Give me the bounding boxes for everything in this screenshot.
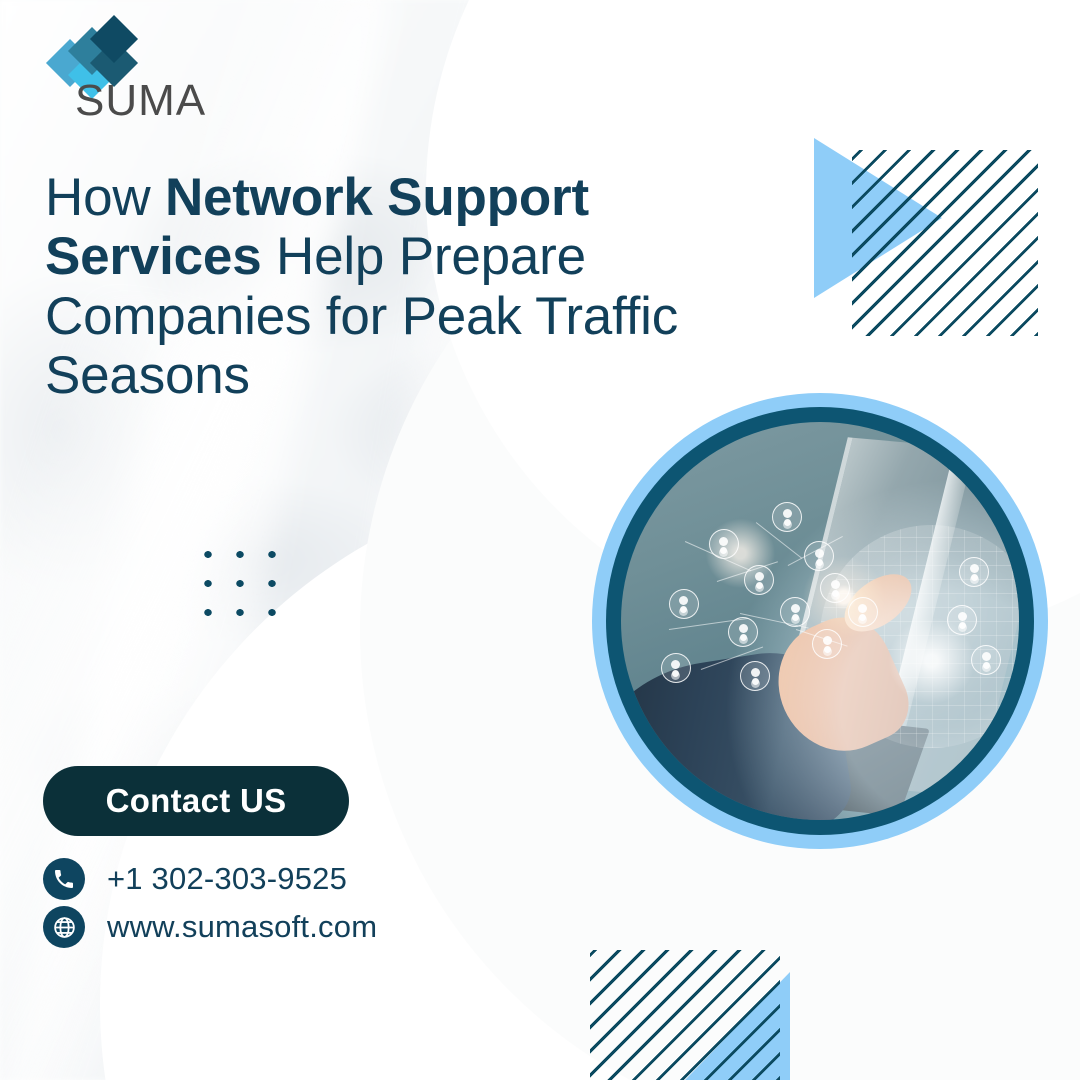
- circular-image-frame: [592, 393, 1048, 849]
- hatch-pattern-top-right: [852, 150, 1038, 336]
- page-title: How Network Support Services Help Prepar…: [45, 168, 685, 405]
- hatch-pattern-bottom-right: [590, 950, 780, 1080]
- dot-grid-decoration: [190, 538, 292, 628]
- phone-icon: [43, 858, 85, 900]
- contact-website-row[interactable]: www.sumasoft.com: [43, 906, 377, 948]
- website-url: www.sumasoft.com: [107, 909, 377, 945]
- network-monitor-photo: [621, 422, 1019, 820]
- phone-number: +1 302-303-9525: [107, 861, 347, 897]
- logo-wordmark: SUMA: [75, 76, 206, 126]
- contact-us-button[interactable]: Contact US: [43, 766, 349, 836]
- headline-part-1: How: [45, 168, 165, 227]
- poster-canvas: SUMA How Network Support Services Help P…: [0, 0, 1080, 1080]
- globe-icon: [43, 906, 85, 948]
- circular-image-inner-ring: [606, 407, 1034, 835]
- suma-logo[interactable]: SUMA: [45, 28, 265, 120]
- contact-phone-row[interactable]: +1 302-303-9525: [43, 858, 347, 900]
